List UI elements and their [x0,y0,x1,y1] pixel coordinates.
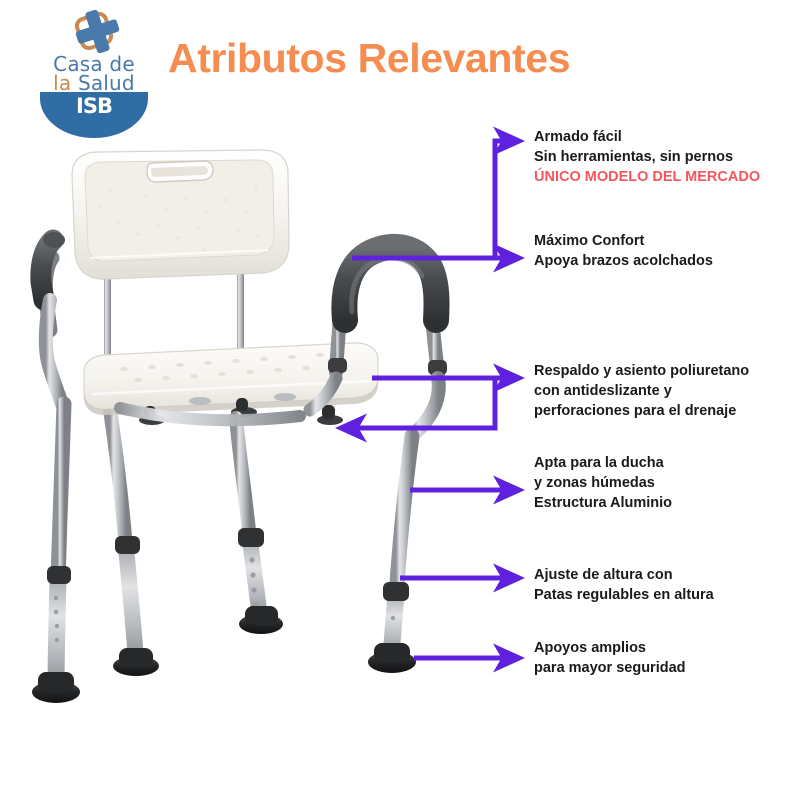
callout-line: Apta para la ducha [534,453,672,473]
callout-line: Apoya brazos acolchados [534,251,713,271]
backrest-panel [72,150,289,279]
callout-apoyos-amplios: Apoyos amplios para mayor seguridad [534,638,686,678]
callout-line: Apoyos amplios [534,638,686,658]
callout-line: perforaciones para el drenaje [534,401,749,421]
infographic-canvas: Casa de la Salud ISB Atributos Relevante… [0,0,800,800]
callout-line: Estructura Aluminio [534,493,672,513]
chair-frame-right [120,378,439,656]
callout-line: Respaldo y asiento poliuretano [534,361,749,381]
callout-line: con antideslizante y [534,381,749,401]
callout-respaldo-asiento: Respaldo y asiento poliuretano con antid… [534,361,749,421]
callout-highlight: ÚNICO MODELO DEL MERCADO [534,167,760,187]
callout-maximo-confort: Máximo Confort Apoya brazos acolchados [534,231,713,271]
rubber-feet [32,606,416,703]
height-adjust-collars [47,528,409,601]
callout-apta-para-ducha: Apta para la ducha y zonas húmedas Estru… [534,453,672,513]
height-adjust-holes [54,557,395,642]
callout-line: Ajuste de altura con [534,565,714,585]
callout-armado-facil: Armado fácil Sin herramientas, sin perno… [534,127,760,187]
callout-line: Sin herramientas, sin pernos [534,147,760,167]
callout-line: Patas regulables en altura [534,585,714,605]
callout-ajuste-de-altura: Ajuste de altura con Patas regulables en… [534,565,714,605]
callout-line: Armado fácil [534,127,760,147]
callout-line: y zonas húmedas [534,473,672,493]
callout-line: Máximo Confort [534,231,713,251]
callout-line: para mayor seguridad [534,658,686,678]
